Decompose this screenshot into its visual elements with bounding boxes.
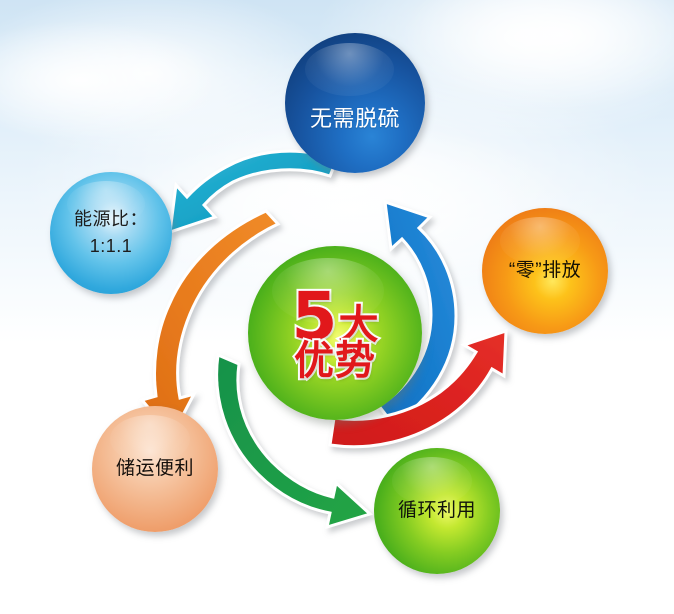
center-headline-sub: 优势	[294, 341, 376, 381]
center-node-five-advantages[interactable]: 5 大 优势	[248, 246, 422, 420]
node-label-recycling: 循环利用	[398, 498, 476, 523]
advantages-diagram: 无需脱硫 能源比： 1:1.1 “零”排放 储运便利 循环利用 5 大 优势	[0, 0, 674, 614]
node-zero-emission[interactable]: “零”排放	[482, 208, 608, 334]
node-label-storage-transport: 储运便利	[116, 456, 194, 481]
node-energy-ratio[interactable]: 能源比： 1:1.1	[50, 172, 172, 294]
node-recycling[interactable]: 循环利用	[374, 448, 500, 574]
node-label-energy-ratio: 能源比： 1:1.1	[74, 206, 148, 260]
node-storage-transport[interactable]: 储运便利	[92, 406, 218, 532]
node-label-no-desulfurization: 无需脱硫	[310, 104, 400, 133]
bubble-gloss	[305, 43, 395, 96]
node-label-zero-emission: “零”排放	[509, 258, 581, 283]
node-no-desulfurization[interactable]: 无需脱硫	[285, 33, 425, 173]
